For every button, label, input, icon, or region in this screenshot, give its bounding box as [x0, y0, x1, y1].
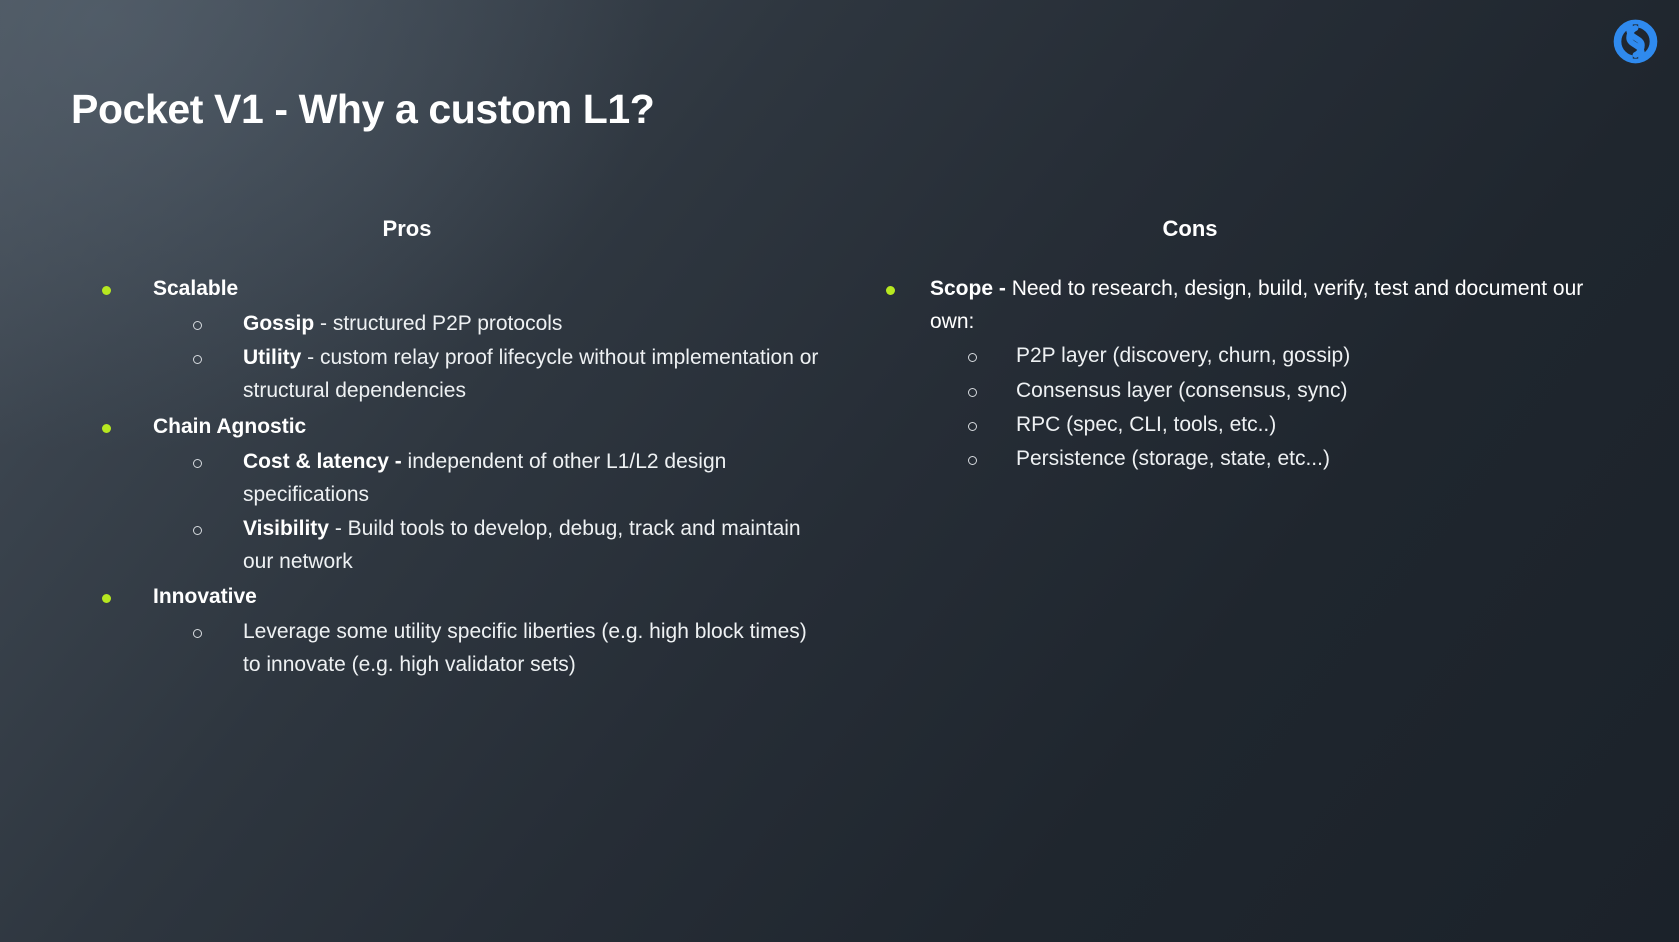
- sub-list-item: Cost & latency - independent of other L1…: [153, 445, 820, 511]
- bullet-dot-icon: [102, 424, 111, 433]
- column-header-pros: Pros: [60, 216, 820, 242]
- list-item-heading: Chain Agnostic: [153, 410, 820, 444]
- pocket-network-logo-icon: [1613, 19, 1658, 64]
- list-item-rest: Need to research, design, build, verify,…: [930, 277, 1583, 333]
- list-item-lead: Chain Agnostic: [153, 415, 306, 438]
- sub-list-item: Utility - custom relay proof lifecycle w…: [153, 341, 820, 407]
- sub-list-item-text: P2P layer (discovery, churn, gossip): [1016, 339, 1620, 372]
- bullet-dot-icon: [102, 594, 111, 603]
- list-item-heading: Innovative: [153, 580, 820, 614]
- pros-sublist-1: Cost & latency - independent of other L1…: [153, 445, 820, 579]
- column-cons: Cons Scope - Need to research, design, b…: [860, 216, 1620, 477]
- sub-list-item: Leverage some utility specific liberties…: [153, 615, 820, 681]
- sub-list-item-text: Gossip - structured P2P protocols: [243, 307, 820, 340]
- list-item: Scope - Need to research, design, build,…: [860, 272, 1620, 475]
- pros-sublist-2: Leverage some utility specific liberties…: [153, 615, 820, 681]
- sub-list-item-text: Persistence (storage, state, etc...): [1016, 442, 1620, 475]
- bullet-circle-icon: [193, 629, 202, 638]
- cons-sublist-0: P2P layer (discovery, churn, gossip) Con…: [930, 339, 1620, 475]
- sub-list-item-text: Visibility - Build tools to develop, deb…: [243, 512, 820, 578]
- slide-canvas: Pocket V1 - Why a custom L1? Pros Scalab…: [0, 0, 1679, 942]
- bullet-circle-icon: [968, 353, 977, 362]
- sub-list-item: Consensus layer (consensus, sync): [930, 374, 1620, 407]
- column-header-cons: Cons: [860, 216, 1620, 242]
- bullet-circle-icon: [193, 459, 202, 468]
- sub-item-lead: Gossip: [243, 312, 314, 335]
- sub-list-item-text: Cost & latency - independent of other L1…: [243, 445, 820, 511]
- list-item-heading: Scope - Need to research, design, build,…: [930, 272, 1620, 338]
- sub-list-item-text: Utility - custom relay proof lifecycle w…: [243, 341, 820, 407]
- sub-item-lead: Utility: [243, 346, 301, 369]
- bullet-circle-icon: [193, 321, 202, 330]
- sub-list-item: Visibility - Build tools to develop, deb…: [153, 512, 820, 578]
- list-item-lead: Scalable: [153, 277, 238, 300]
- sub-list-item-text: Leverage some utility specific liberties…: [243, 615, 820, 681]
- list-item-lead: Scope -: [930, 277, 1006, 300]
- bullet-circle-icon: [968, 388, 977, 397]
- pros-list: Scalable Gossip - structured P2P protoco…: [60, 272, 820, 682]
- list-item-lead: Innovative: [153, 585, 257, 608]
- sub-list-item-text: RPC (spec, CLI, tools, etc..): [1016, 408, 1620, 441]
- cons-list: Scope - Need to research, design, build,…: [860, 272, 1620, 475]
- sub-list-item: P2P layer (discovery, churn, gossip): [930, 339, 1620, 372]
- bullet-circle-icon: [968, 456, 977, 465]
- column-pros: Pros Scalable Gossip - structured P2P pr…: [60, 216, 820, 684]
- sub-item-rest: - structured P2P protocols: [314, 312, 562, 335]
- sub-list-item: Persistence (storage, state, etc...): [930, 442, 1620, 475]
- list-item: Chain Agnostic Cost & latency - independ…: [60, 410, 820, 579]
- list-item: Scalable Gossip - structured P2P protoco…: [60, 272, 820, 408]
- sub-list-item: Gossip - structured P2P protocols: [153, 307, 820, 340]
- sub-item-rest: Leverage some utility specific liberties…: [243, 620, 807, 676]
- sub-item-lead: Visibility: [243, 517, 329, 540]
- sub-list-item: RPC (spec, CLI, tools, etc..): [930, 408, 1620, 441]
- sub-item-lead: Cost & latency -: [243, 450, 402, 473]
- sub-list-item-text: Consensus layer (consensus, sync): [1016, 374, 1620, 407]
- bullet-circle-icon: [193, 355, 202, 364]
- sub-item-rest: - custom relay proof lifecycle without i…: [243, 346, 818, 402]
- list-item: Innovative Leverage some utility specifi…: [60, 580, 820, 681]
- bullet-circle-icon: [968, 422, 977, 431]
- bullet-circle-icon: [193, 526, 202, 535]
- list-item-heading: Scalable: [153, 272, 820, 306]
- pros-sublist-0: Gossip - structured P2P protocols Utilit…: [153, 307, 820, 408]
- page-title: Pocket V1 - Why a custom L1?: [71, 86, 654, 133]
- bullet-dot-icon: [886, 286, 895, 295]
- bullet-dot-icon: [102, 286, 111, 295]
